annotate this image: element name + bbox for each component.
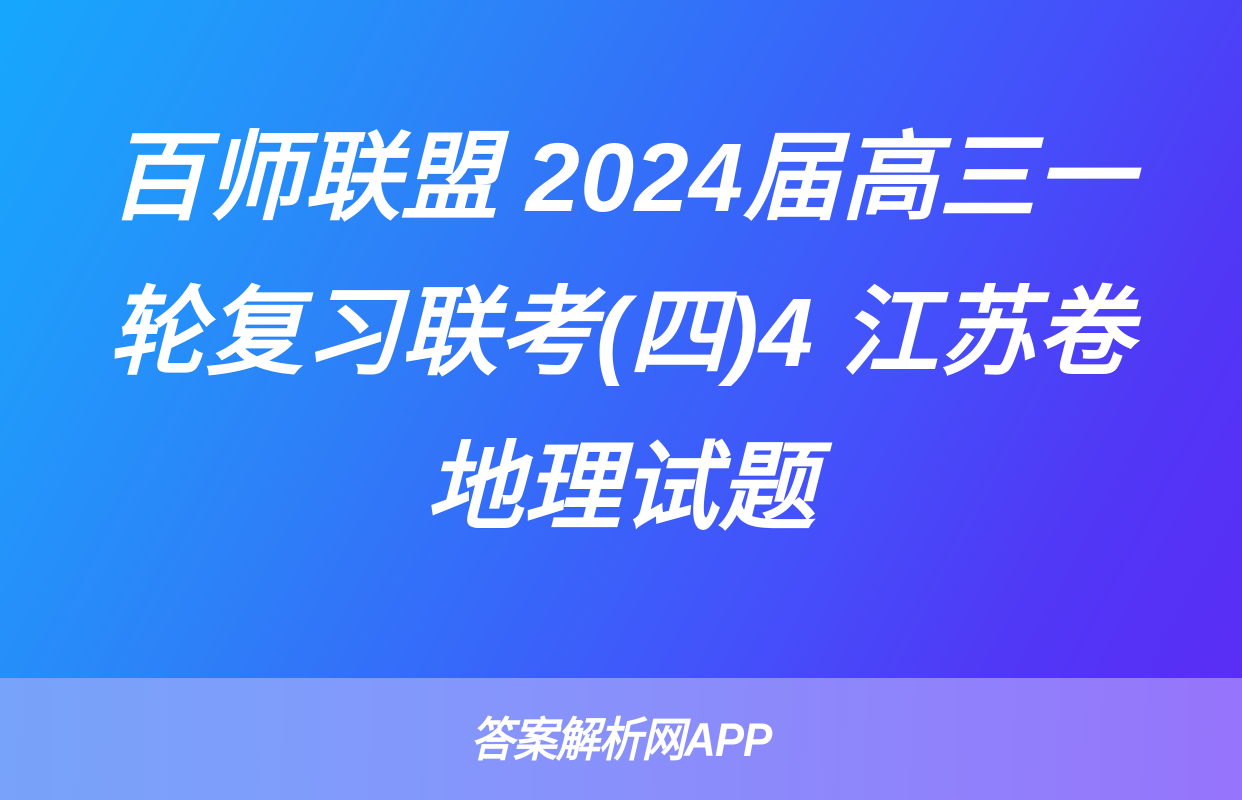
hero-content: 百师联盟 2024届高三一轮复习联考(四)4 江苏卷地理试题 <box>81 100 1161 579</box>
footer-brand-band: 答案解析网APP <box>0 678 1242 800</box>
hero-band: 百师联盟 2024届高三一轮复习联考(四)4 江苏卷地理试题 <box>0 0 1242 678</box>
page-title: 百师联盟 2024届高三一轮复习联考(四)4 江苏卷地理试题 <box>81 100 1161 565</box>
poster-banner: 百师联盟 2024届高三一轮复习联考(四)4 江苏卷地理试题 答案解析网APP <box>0 0 1242 800</box>
brand-watermark: 答案解析网APP <box>470 716 771 763</box>
